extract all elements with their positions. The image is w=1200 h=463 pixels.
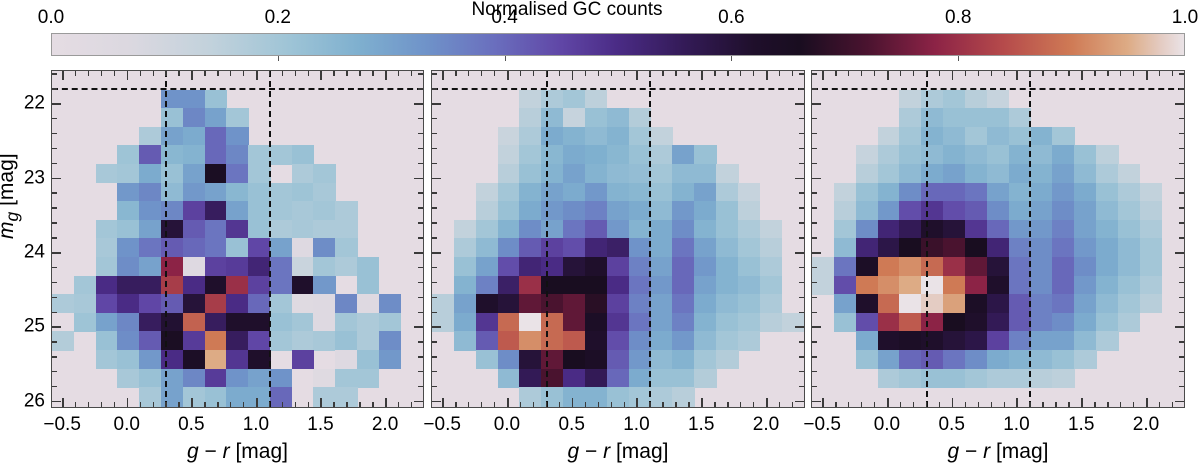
heatmap-cell — [760, 257, 782, 276]
x-tick-top — [939, 71, 940, 76]
x-tick-top — [359, 71, 360, 76]
heatmap-cell — [563, 164, 585, 183]
heatmap-cell — [205, 387, 227, 407]
heatmap-cell — [498, 127, 520, 146]
heatmap-panel-2[interactable] — [431, 70, 805, 408]
y-tick-label: 25 — [17, 317, 45, 336]
heatmap-cell — [1096, 331, 1118, 350]
heatmap-cell — [965, 145, 987, 164]
heatmap-cell — [519, 276, 541, 295]
x-tick-bottom — [320, 398, 322, 407]
heatmap-cell — [629, 387, 651, 407]
x-tick-bottom — [468, 402, 469, 407]
y-tick-left — [432, 267, 437, 268]
y-tick-left — [812, 401, 821, 403]
heatmap-cell — [270, 369, 292, 388]
heatmap-cell — [738, 257, 760, 276]
heatmap-cell — [856, 183, 878, 202]
heatmap-cell — [541, 108, 563, 127]
y-tick-right — [1179, 282, 1184, 283]
heatmap-cell — [519, 183, 541, 202]
x-tick-top — [411, 71, 412, 76]
heatmap-cell — [1140, 220, 1162, 239]
heatmap-cell — [585, 238, 607, 257]
x-tick-top — [900, 71, 901, 76]
x-tick-bottom — [792, 402, 793, 407]
y-tick-right — [1179, 222, 1184, 223]
x-tick-bottom — [688, 402, 689, 407]
y-axis-title-sub: g — [2, 212, 22, 222]
x-axis-title-minus: − — [199, 440, 223, 463]
y-tick-right — [1179, 312, 1184, 313]
heatmap-cell — [585, 183, 607, 202]
heatmap-cell — [1074, 313, 1096, 332]
heatmap-cell — [716, 183, 738, 202]
x-tick-bottom — [559, 402, 560, 407]
heatmap-cell — [1031, 145, 1053, 164]
heatmap-cell — [899, 127, 921, 146]
x-tick-bottom — [1133, 402, 1134, 407]
heatmap-panel-3[interactable] — [811, 70, 1185, 408]
heatmap-cell — [476, 276, 498, 295]
heatmap-cell — [541, 183, 563, 202]
heatmap-cell — [563, 257, 585, 276]
heatmap-cell — [1052, 257, 1074, 276]
heatmap-cell — [651, 220, 673, 239]
x-tick-label: −0.5 — [803, 415, 841, 434]
heatmap-cell — [313, 257, 335, 276]
heatmap-cell — [248, 145, 270, 164]
heatmap-cell — [226, 257, 248, 276]
heatmap-cell — [965, 108, 987, 127]
heatmap-cell — [1074, 294, 1096, 313]
y-tick-right — [1175, 178, 1184, 180]
heatmap-cell — [694, 313, 716, 332]
heatmap-cell — [292, 276, 314, 295]
y-tick-right — [418, 386, 423, 387]
heatmap-cell — [541, 201, 563, 220]
heatmap-cell — [74, 276, 96, 295]
heatmap-cell — [1031, 127, 1053, 146]
y-tick-left — [432, 163, 437, 164]
heatmap-cell — [541, 387, 563, 407]
heatmap-cell — [716, 331, 738, 350]
heatmap-cell — [585, 331, 607, 350]
heatmap-cell — [226, 108, 248, 127]
y-tick-right — [1179, 118, 1184, 119]
heatmap-cell — [357, 350, 379, 369]
heatmap-panel-1[interactable] — [51, 70, 424, 408]
y-axis-title: mg [mag] — [0, 153, 23, 239]
heatmap-cell — [476, 238, 498, 257]
heatmap-cell — [607, 220, 629, 239]
heatmap-cell — [379, 331, 401, 350]
heatmap-cell — [878, 294, 900, 313]
heatmap-cell — [1118, 164, 1140, 183]
heatmap-cell — [921, 127, 943, 146]
x-axis-title-g: g — [948, 440, 960, 463]
x-tick-bottom — [269, 402, 270, 407]
y-tick-left — [432, 133, 437, 134]
y-tick-right — [795, 252, 804, 254]
heatmap-cell — [139, 127, 161, 146]
heatmap-cell — [1052, 220, 1074, 239]
heatmap-cell — [248, 350, 270, 369]
heatmap-cell — [1009, 313, 1031, 332]
heatmap-cell — [563, 90, 585, 109]
heatmap-cell — [454, 294, 476, 313]
heatmap-cell — [270, 220, 292, 239]
x-tick-top — [333, 71, 334, 76]
heatmap-cell — [226, 276, 248, 295]
heatmap-cell — [1009, 238, 1031, 257]
heatmap-cell — [694, 201, 716, 220]
y-tick-right — [799, 267, 804, 268]
x-tick-bottom — [243, 402, 244, 407]
x-tick-label: 0.0 — [494, 415, 520, 434]
heatmap-cell — [943, 90, 965, 109]
y-tick-left — [432, 148, 437, 149]
heatmap-cell — [519, 201, 541, 220]
heatmap-cell — [357, 331, 379, 350]
x-tick-label: 0.5 — [938, 415, 964, 434]
y-tick-right — [799, 163, 804, 164]
y-tick-left — [432, 178, 441, 180]
y-tick-left — [812, 237, 817, 238]
heatmap-cell — [651, 145, 673, 164]
heatmap-cell — [585, 145, 607, 164]
heatmap-cell — [292, 331, 314, 350]
y-tick-right — [1179, 88, 1184, 89]
x-tick-top — [165, 71, 166, 76]
heatmap-cell — [476, 201, 498, 220]
heatmap-cell — [183, 369, 205, 388]
heatmap-cell — [117, 331, 139, 350]
heatmap-cell — [585, 164, 607, 183]
heatmap-cell — [921, 183, 943, 202]
heatmap-cell — [117, 183, 139, 202]
heatmap-cell — [834, 220, 856, 239]
x-tick-top — [636, 71, 638, 80]
x-axis-title-r: r — [223, 440, 230, 463]
x-tick-bottom — [913, 402, 914, 407]
heatmap-cell — [563, 331, 585, 350]
x-tick-top — [282, 71, 283, 76]
heatmap-cell — [541, 90, 563, 109]
x-tick-top — [1133, 71, 1134, 76]
heatmap-cell — [183, 164, 205, 183]
heatmap-cell — [313, 183, 335, 202]
heatmap-cell — [738, 294, 760, 313]
heatmap-cell — [117, 164, 139, 183]
x-tick-top — [1004, 71, 1005, 76]
y-tick-left — [812, 133, 817, 134]
x-tick-top — [585, 71, 586, 76]
x-tick-top — [1042, 71, 1043, 76]
heatmap-cell — [878, 127, 900, 146]
heatmap-cell — [943, 294, 965, 313]
heatmap-cell — [629, 201, 651, 220]
heatmap-cell — [357, 257, 379, 276]
heatmap-cell — [248, 294, 270, 313]
heatmap-cell — [760, 294, 782, 313]
x-tick-top — [1029, 71, 1030, 76]
heatmap-cell — [248, 369, 270, 388]
x-tick-bottom — [861, 402, 862, 407]
heatmap-cell — [248, 331, 270, 350]
heatmap-cell — [585, 90, 607, 109]
y-tick-left — [52, 371, 57, 372]
y-tick-left — [812, 148, 817, 149]
heatmap-cell — [248, 238, 270, 257]
y-tick-right — [799, 282, 804, 283]
heatmap-cell — [899, 238, 921, 257]
guide-line-horizontal — [812, 88, 1184, 90]
y-tick-left — [52, 401, 61, 403]
x-tick-label: 1.0 — [1003, 415, 1029, 434]
y-tick-right — [418, 341, 423, 342]
x-tick-top — [611, 71, 612, 76]
x-tick-top — [114, 71, 115, 76]
heatmap-cell — [563, 201, 585, 220]
heatmap-cell — [1074, 164, 1096, 183]
heatmap-cell — [987, 108, 1009, 127]
y-tick-left — [52, 192, 57, 193]
heatmap-cell — [270, 257, 292, 276]
x-tick-bottom — [1172, 402, 1173, 407]
guide-line-vertical — [165, 71, 167, 407]
heatmap-cell — [498, 183, 520, 202]
y-tick-left — [812, 118, 817, 119]
heatmap-cell — [1052, 127, 1074, 146]
heatmap-cell — [965, 257, 987, 276]
heatmap-cell — [607, 164, 629, 183]
heatmap-cell — [563, 238, 585, 257]
heatmap-cell — [161, 276, 183, 295]
x-tick-top — [792, 71, 793, 76]
heatmap-cell — [716, 350, 738, 369]
heatmap-cell — [1140, 294, 1162, 313]
x-tick-top — [1068, 71, 1069, 76]
x-tick-top — [494, 71, 495, 76]
heatmap-cell — [519, 145, 541, 164]
y-tick-right — [1175, 401, 1184, 403]
x-tick-top — [740, 71, 741, 76]
heatmap-cell — [139, 313, 161, 332]
heatmap-cell — [117, 369, 139, 388]
y-tick-left — [432, 371, 437, 372]
x-tick-top — [230, 71, 231, 76]
heatmap-cell — [498, 164, 520, 183]
y-tick-left — [52, 207, 57, 208]
heatmap-cell — [139, 164, 161, 183]
heatmap-cell — [965, 127, 987, 146]
x-tick-label: −0.5 — [43, 415, 81, 434]
heatmap-cell — [248, 220, 270, 239]
x-tick-bottom — [1004, 402, 1005, 407]
heatmap-cell — [716, 294, 738, 313]
x-tick-top — [779, 71, 780, 76]
y-tick-right — [414, 178, 423, 180]
x-tick-label: 0.5 — [558, 415, 584, 434]
x-tick-bottom — [835, 402, 836, 407]
heatmap-cell — [1009, 201, 1031, 220]
y-tick-left — [52, 326, 61, 328]
heatmap-cell — [519, 257, 541, 276]
y-tick-left — [52, 148, 57, 149]
heatmap-cell — [943, 238, 965, 257]
heatmap-cell — [519, 350, 541, 369]
colorbar-tick — [731, 56, 732, 61]
heatmap-cell — [943, 350, 965, 369]
guide-line-vertical — [546, 71, 548, 407]
heatmap-cell — [607, 276, 629, 295]
heatmap-cell — [335, 238, 357, 257]
heatmap-cell — [856, 238, 878, 257]
heatmap-cell — [519, 387, 541, 407]
heatmap-cell — [987, 127, 1009, 146]
heatmap-cell — [161, 90, 183, 109]
heatmap-cell — [1096, 257, 1118, 276]
heatmap-cell — [248, 276, 270, 295]
y-tick-right — [795, 401, 804, 403]
x-tick-bottom — [662, 402, 663, 407]
heatmap-cell — [1096, 183, 1118, 202]
y-tick-right — [418, 282, 423, 283]
heatmap-cell — [205, 90, 227, 109]
heatmap-cell — [651, 294, 673, 313]
colorbar-tick — [958, 56, 959, 61]
x-tick-bottom — [217, 402, 218, 407]
y-tick-left — [812, 207, 817, 208]
heatmap-cell — [519, 108, 541, 127]
heatmap-cell — [694, 257, 716, 276]
heatmap-cell — [379, 294, 401, 313]
y-tick-left — [432, 192, 437, 193]
y-tick-left — [432, 297, 437, 298]
heatmap-cell — [357, 294, 379, 313]
heatmap-cell — [1031, 201, 1053, 220]
y-tick-left — [52, 237, 57, 238]
x-tick-bottom — [481, 402, 482, 407]
y-tick-right — [418, 237, 423, 238]
heatmap-cell — [899, 294, 921, 313]
heatmap-cell — [987, 220, 1009, 239]
heatmap-cell — [205, 164, 227, 183]
x-tick-label: 2.0 — [1133, 415, 1159, 434]
heatmap-cell — [1118, 276, 1140, 295]
heatmap-cell — [335, 350, 357, 369]
heatmap-cell — [629, 145, 651, 164]
heatmap-cell — [1009, 164, 1031, 183]
heatmap-cell — [1052, 145, 1074, 164]
y-tick-left — [52, 88, 57, 89]
heatmap-cell — [1009, 220, 1031, 239]
colorbar-tick-label: 0.8 — [945, 8, 971, 27]
heatmap-cell — [585, 369, 607, 388]
x-tick-label: 2.0 — [753, 415, 779, 434]
heatmap-cell — [498, 201, 520, 220]
heatmap-cell — [585, 387, 607, 407]
x-tick-bottom — [114, 402, 115, 407]
y-tick-right — [795, 326, 804, 328]
x-tick-label: 1.0 — [243, 415, 269, 434]
heatmap-cell — [629, 164, 651, 183]
y-tick-left — [52, 103, 61, 105]
heatmap-cell — [1096, 164, 1118, 183]
x-tick-label: 0.0 — [874, 415, 900, 434]
heatmap-cell — [782, 313, 805, 332]
heatmap-cell — [205, 238, 227, 257]
heatmap-cell — [694, 276, 716, 295]
heatmap-cell — [943, 127, 965, 146]
heatmap-cell — [541, 145, 563, 164]
y-tick-left — [812, 222, 817, 223]
heatmap-cell — [1009, 350, 1031, 369]
y-tick-left — [432, 326, 441, 328]
heatmap-cell — [738, 220, 760, 239]
heatmap-cell — [313, 313, 335, 332]
heatmap-cell — [672, 276, 694, 295]
x-tick-bottom — [333, 402, 334, 407]
heatmap-cell — [834, 257, 856, 276]
heatmap-cell — [1009, 257, 1031, 276]
heatmap-cell — [161, 108, 183, 127]
x-tick-top — [62, 71, 64, 80]
heatmap-cell — [96, 257, 118, 276]
heatmap-cell — [607, 331, 629, 350]
y-tick-left — [432, 401, 441, 403]
y-tick-right — [799, 73, 804, 74]
heatmap-cell — [965, 350, 987, 369]
x-tick-bottom — [75, 402, 76, 407]
heatmap-cell — [716, 276, 738, 295]
x-tick-label: 1.5 — [688, 415, 714, 434]
x-tick-top — [1094, 71, 1095, 76]
x-tick-label: 1.0 — [623, 415, 649, 434]
heatmap-cell — [541, 313, 563, 332]
heatmap-cell — [1118, 294, 1140, 313]
heatmap-cell — [651, 276, 673, 295]
heatmap-cell — [498, 350, 520, 369]
heatmap-cell — [183, 238, 205, 257]
heatmap-cell — [541, 350, 563, 369]
colorbar-tick-label: 1.0 — [1172, 8, 1198, 27]
colorbar-tick — [505, 56, 506, 61]
heatmap-cell — [738, 201, 760, 220]
heatmap-cell — [183, 127, 205, 146]
heatmap-cell — [672, 257, 694, 276]
heatmap-cell — [1052, 331, 1074, 350]
heatmap-cell — [672, 294, 694, 313]
heatmap-cell — [1031, 369, 1053, 388]
x-tick-bottom — [779, 402, 780, 407]
x-tick-bottom — [585, 402, 586, 407]
heatmap-cell — [651, 331, 673, 350]
x-axis-title-unit: [mag] — [230, 440, 288, 463]
heatmap-cell — [1118, 183, 1140, 202]
y-tick-left — [812, 386, 817, 387]
x-tick-bottom — [900, 402, 901, 407]
heatmap-cell — [161, 183, 183, 202]
heatmap-cell — [760, 220, 782, 239]
heatmap-cell — [476, 294, 498, 313]
heatmap-cell — [943, 331, 965, 350]
x-axis-title-minus: − — [579, 440, 603, 463]
y-tick-right — [799, 133, 804, 134]
x-tick-bottom — [359, 402, 360, 407]
heatmap-cell — [899, 90, 921, 109]
